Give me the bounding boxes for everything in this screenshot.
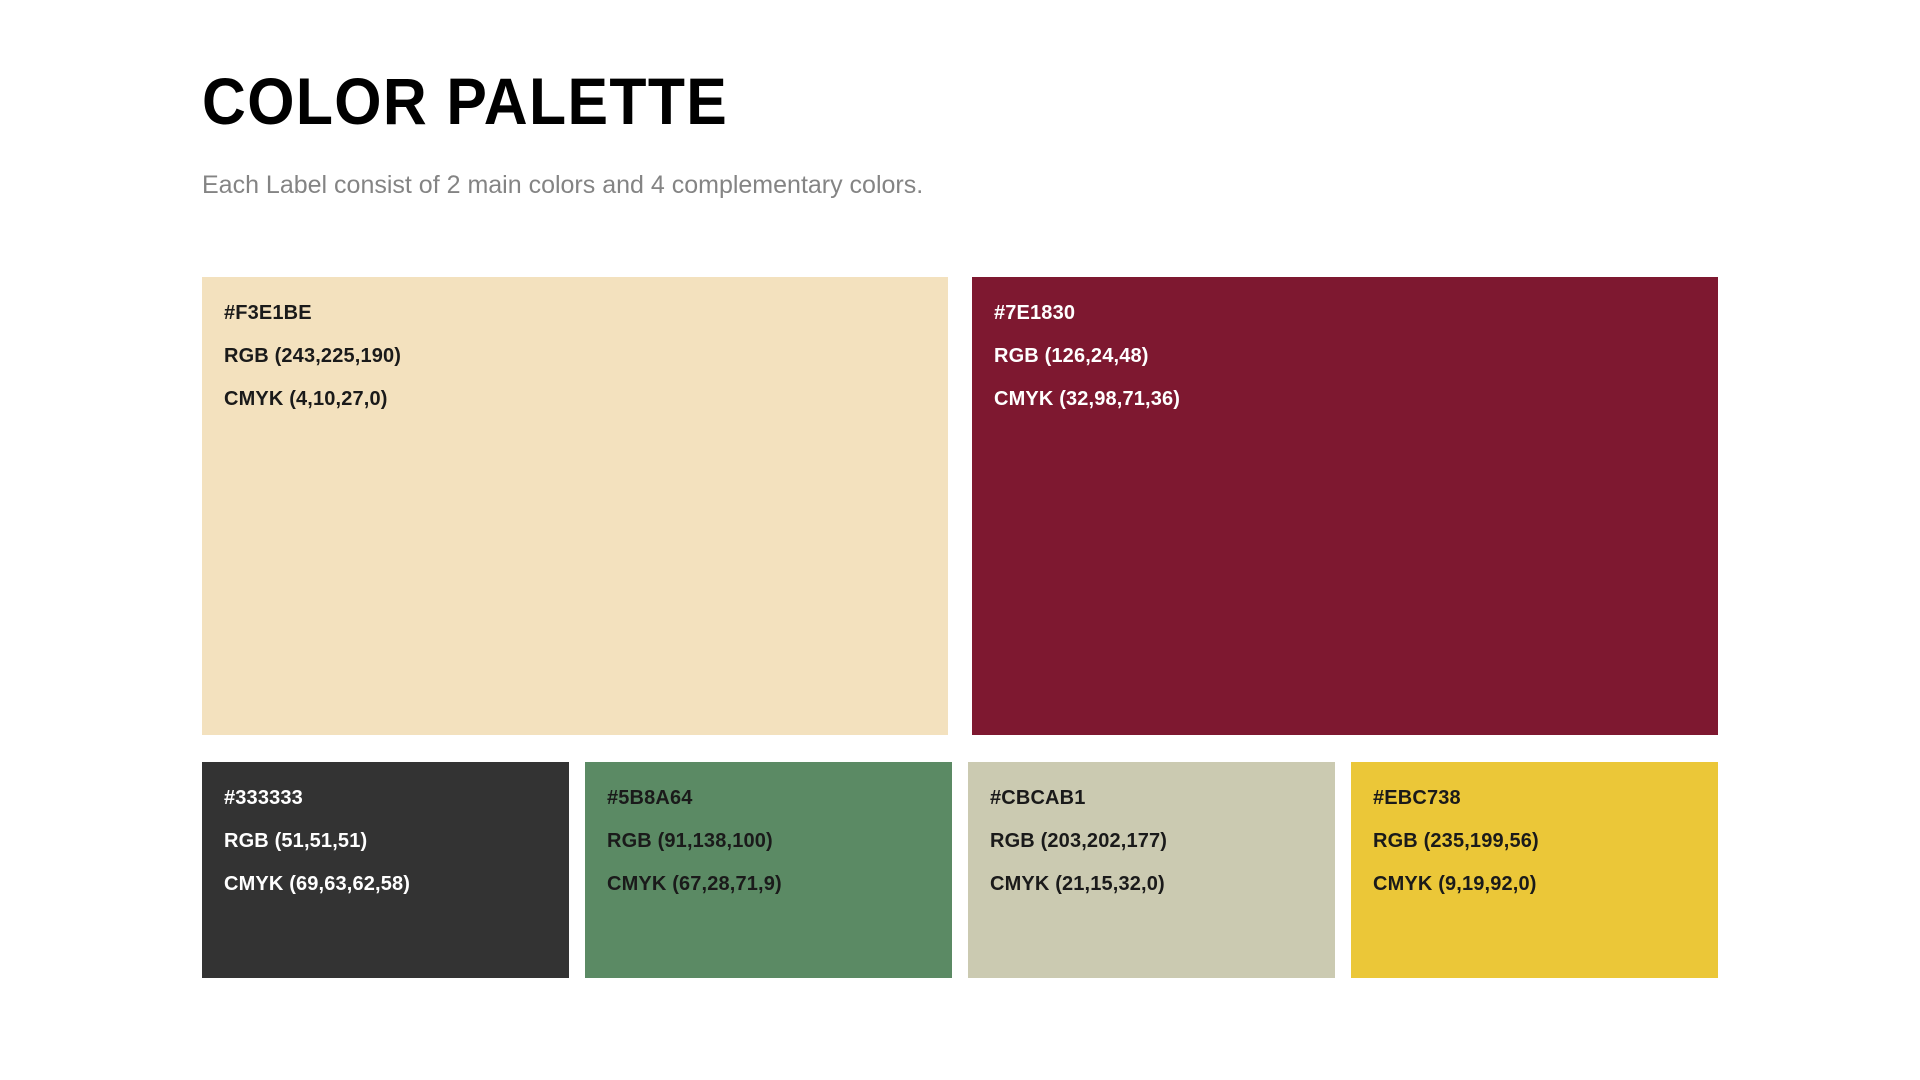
swatch-rgb-label: RGB (235,199,56) (1373, 829, 1696, 872)
color-palette-page: COLOR PALETTE Each Label consist of 2 ma… (0, 0, 1920, 1080)
swatch-cmyk-label: CMYK (4,10,27,0) (224, 387, 926, 411)
color-swatch-golden-yellow[interactable]: #EBC738 RGB (235,199,56) CMYK (9,19,92,0… (1351, 762, 1718, 978)
swatch-rgb-label: RGB (243,225,190) (224, 344, 926, 387)
swatch-cmyk-label: CMYK (67,28,71,9) (607, 872, 930, 896)
swatch-hex-label: #F3E1BE (224, 301, 926, 344)
swatch-cmyk-label: CMYK (32,98,71,36) (994, 387, 1696, 411)
color-swatch-sage-green[interactable]: #5B8A64 RGB (91,138,100) CMYK (67,28,71,… (585, 762, 952, 978)
page-header: COLOR PALETTE Each Label consist of 2 ma… (202, 62, 1722, 200)
color-swatch-burgundy[interactable]: #7E1830 RGB (126,24,48) CMYK (32,98,71,3… (972, 277, 1718, 735)
main-colors-row: #F3E1BE RGB (243,225,190) CMYK (4,10,27,… (202, 277, 1718, 735)
swatch-hex-label: #EBC738 (1373, 786, 1696, 829)
swatch-hex-label: #5B8A64 (607, 786, 930, 829)
swatch-cmyk-label: CMYK (21,15,32,0) (990, 872, 1313, 896)
color-swatch-charcoal[interactable]: #333333 RGB (51,51,51) CMYK (69,63,62,58… (202, 762, 569, 978)
swatch-hex-label: #7E1830 (994, 301, 1696, 344)
color-swatch-cream[interactable]: #F3E1BE RGB (243,225,190) CMYK (4,10,27,… (202, 277, 948, 735)
swatch-grid: #F3E1BE RGB (243,225,190) CMYK (4,10,27,… (202, 277, 1718, 978)
complementary-colors-row: #333333 RGB (51,51,51) CMYK (69,63,62,58… (202, 762, 1718, 978)
swatch-hex-label: #CBCAB1 (990, 786, 1313, 829)
swatch-rgb-label: RGB (51,51,51) (224, 829, 547, 872)
swatch-rgb-label: RGB (203,202,177) (990, 829, 1313, 872)
swatch-cmyk-label: CMYK (9,19,92,0) (1373, 872, 1696, 896)
swatch-hex-label: #333333 (224, 786, 547, 829)
swatch-rgb-label: RGB (126,24,48) (994, 344, 1696, 387)
color-swatch-stone[interactable]: #CBCAB1 RGB (203,202,177) CMYK (21,15,32… (968, 762, 1335, 978)
swatch-cmyk-label: CMYK (69,63,62,58) (224, 872, 547, 896)
page-subtitle: Each Label consist of 2 main colors and … (202, 140, 1722, 200)
swatch-rgb-label: RGB (91,138,100) (607, 829, 930, 872)
page-title: COLOR PALETTE (202, 62, 1600, 140)
